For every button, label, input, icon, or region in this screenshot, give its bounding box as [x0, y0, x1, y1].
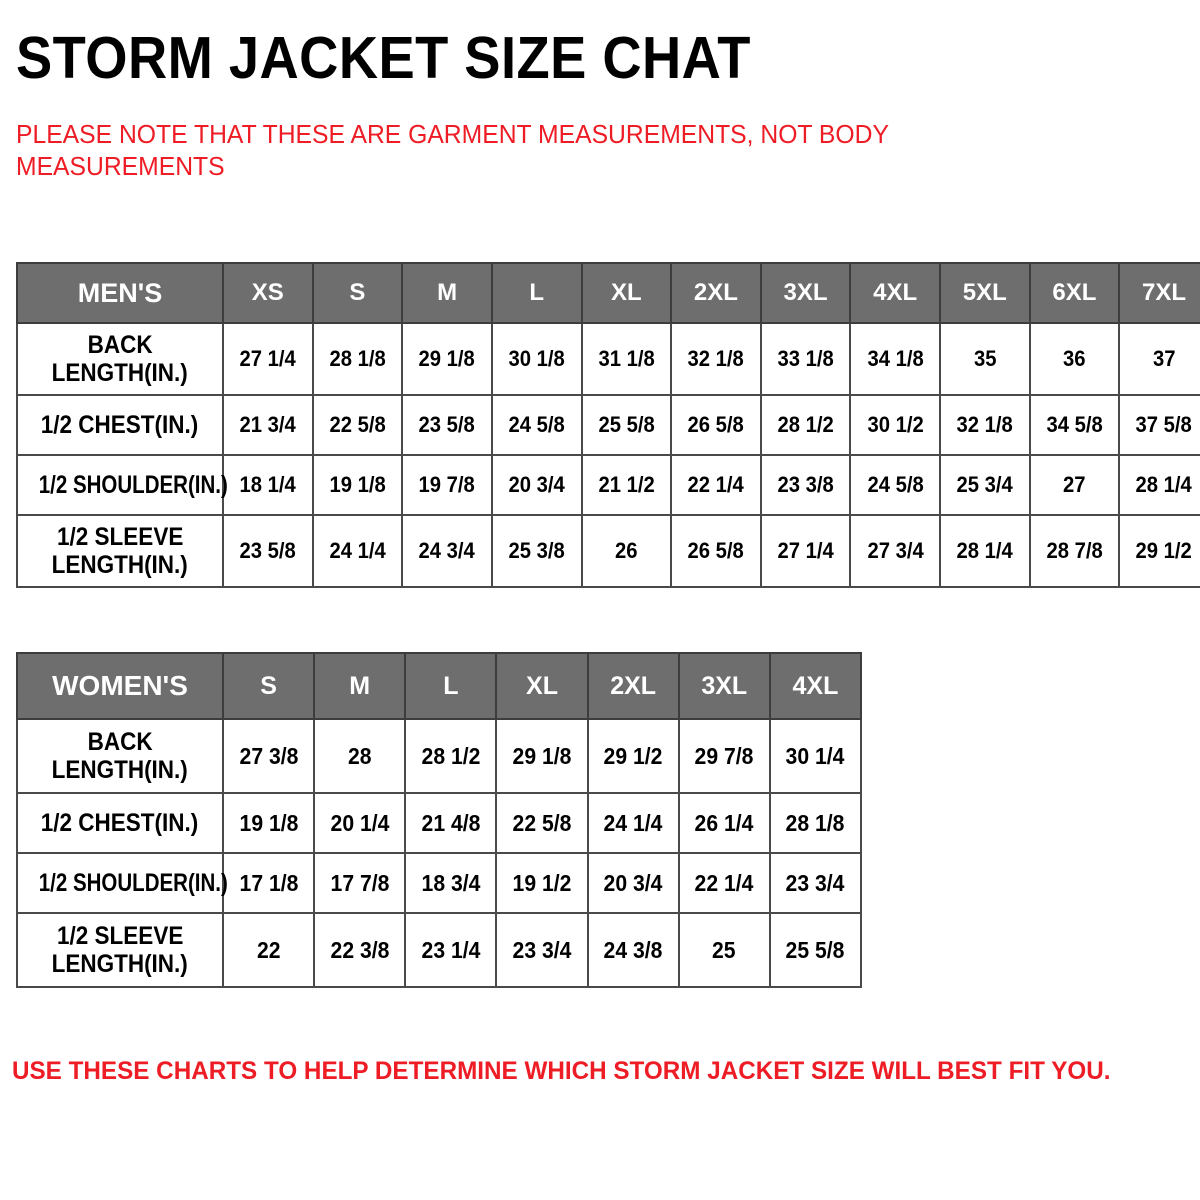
measurement-cell: 23 5/8 — [402, 395, 492, 455]
table-row: 1/2 SHOULDER(IN.)18 1/419 1/819 7/820 3/… — [17, 455, 1200, 515]
measurement-cell: 26 — [582, 515, 672, 587]
measurement-value: 28 1/8 — [329, 346, 385, 372]
mens-size-header-l: L — [492, 263, 582, 323]
mens-size-header-4xl: 4XL — [850, 263, 940, 323]
measurement-label-line1: 1/2 SLEEVE — [57, 922, 183, 950]
measurement-cell: 22 1/4 — [679, 853, 770, 913]
mens-measurement-label: 1/2 SLEEVELENGTH(IN.) — [17, 515, 223, 587]
measurement-cell: 34 1/8 — [850, 323, 940, 395]
womens-measurement-label: BACKLENGTH(IN.) — [17, 719, 223, 793]
measurement-label-line1: 1/2 CHEST(IN.) — [41, 411, 199, 439]
measurement-value: 17 1/8 — [239, 870, 298, 897]
mens-table-body: BACKLENGTH(IN.)27 1/428 1/829 1/830 1/83… — [17, 323, 1200, 587]
measurement-cell: 27 3/4 — [850, 515, 940, 587]
womens-table-header: WOMEN'SSMLXL2XL3XL4XL — [17, 653, 861, 719]
measurement-cell: 20 1/4 — [314, 793, 405, 853]
womens-header-row: WOMEN'SSMLXL2XL3XL4XL — [17, 653, 861, 719]
measurement-value: 27 3/8 — [239, 743, 298, 770]
measurement-value: 18 1/4 — [240, 472, 296, 498]
measurement-value: 24 1/4 — [329, 538, 385, 564]
measurement-value: 28 1/4 — [1136, 472, 1192, 498]
measurement-cell: 30 1/8 — [492, 323, 582, 395]
measurement-value: 19 7/8 — [419, 472, 475, 498]
measurement-cell: 20 3/4 — [492, 455, 582, 515]
measurement-cell: 21 4/8 — [405, 793, 496, 853]
measurement-value: 36 — [1063, 346, 1086, 372]
size-chart-page: STORM JACKET SIZE CHAT PLEASE NOTE THAT … — [0, 0, 1200, 1200]
measurement-cell: 24 5/8 — [850, 455, 940, 515]
measurement-value: 27 — [1063, 472, 1086, 498]
measurement-value: 31 1/8 — [598, 346, 654, 372]
measurement-cell: 22 1/4 — [671, 455, 761, 515]
measurement-cell: 32 1/8 — [940, 395, 1030, 455]
measurement-cell: 29 1/2 — [1119, 515, 1200, 587]
measurement-value: 28 1/4 — [957, 538, 1013, 564]
measurement-value: 32 1/8 — [688, 346, 744, 372]
measurement-cell: 21 3/4 — [223, 395, 313, 455]
womens-measurement-label: 1/2 SLEEVELENGTH(IN.) — [17, 913, 223, 987]
womens-corner-label: WOMEN'S — [17, 653, 223, 719]
table-row: BACKLENGTH(IN.)27 3/82828 1/229 1/829 1/… — [17, 719, 861, 793]
measurement-value: 28 7/8 — [1046, 538, 1102, 564]
measurement-cell: 23 3/4 — [770, 853, 861, 913]
measurement-value: 25 3/8 — [509, 538, 565, 564]
measurement-cell: 25 5/8 — [770, 913, 861, 987]
measurement-cell: 30 1/4 — [770, 719, 861, 793]
table-row: 1/2 SLEEVELENGTH(IN.)2222 3/823 1/423 3/… — [17, 913, 861, 987]
measurement-cell: 29 7/8 — [679, 719, 770, 793]
measurement-cell: 27 3/8 — [223, 719, 314, 793]
measurement-cell: 29 1/2 — [588, 719, 679, 793]
measurement-cell: 37 5/8 — [1119, 395, 1200, 455]
womens-size-header-3xl: 3XL — [679, 653, 770, 719]
measurement-value: 25 5/8 — [598, 412, 654, 438]
measurement-cell: 25 5/8 — [582, 395, 672, 455]
measurement-cell: 30 1/2 — [850, 395, 940, 455]
measurement-label-line1: BACK — [88, 331, 153, 359]
measurement-value: 19 1/8 — [239, 810, 298, 837]
mens-size-header-xl: XL — [582, 263, 672, 323]
measurement-label-line2: LENGTH(IN.) — [52, 756, 188, 784]
measurement-value: 23 5/8 — [419, 412, 475, 438]
measurement-cell: 17 7/8 — [314, 853, 405, 913]
table-row: 1/2 SLEEVELENGTH(IN.)23 5/824 1/424 3/42… — [17, 515, 1200, 587]
measurement-value: 23 1/4 — [421, 937, 480, 964]
measurement-cell: 29 1/8 — [402, 323, 492, 395]
measurement-cell: 18 3/4 — [405, 853, 496, 913]
measurement-value: 29 1/2 — [604, 743, 663, 770]
mens-corner-label: MEN'S — [17, 263, 223, 323]
mens-header-row: MEN'SXSSMLXL2XL3XL4XL5XL6XL7XL — [17, 263, 1200, 323]
womens-size-header-xl: XL — [496, 653, 587, 719]
measurement-value: 28 1/2 — [777, 412, 833, 438]
measurement-value: 24 5/8 — [867, 472, 923, 498]
mens-size-header-7xl: 7XL — [1119, 263, 1200, 323]
measurement-value: 19 1/8 — [329, 472, 385, 498]
measurement-cell: 19 1/8 — [313, 455, 403, 515]
womens-measurement-label: 1/2 SHOULDER(IN.) — [17, 853, 223, 913]
measurement-cell: 22 — [223, 913, 314, 987]
measurement-value: 22 1/4 — [688, 472, 744, 498]
measurement-value: 22 3/8 — [330, 937, 389, 964]
measurement-cell: 25 3/4 — [940, 455, 1030, 515]
measurement-value: 23 3/4 — [513, 937, 572, 964]
measurement-value: 34 5/8 — [1046, 412, 1102, 438]
measurement-value: 23 3/4 — [786, 870, 845, 897]
measurement-value: 26 5/8 — [688, 412, 744, 438]
measurement-value: 22 1/4 — [695, 870, 754, 897]
measurement-value: 23 5/8 — [240, 538, 296, 564]
measurement-cell: 19 7/8 — [402, 455, 492, 515]
measurement-cell: 24 3/8 — [588, 913, 679, 987]
womens-table-body: BACKLENGTH(IN.)27 3/82828 1/229 1/829 1/… — [17, 719, 861, 987]
measurement-label-line1: 1/2 CHEST(IN.) — [41, 809, 199, 837]
measurement-cell: 22 3/8 — [314, 913, 405, 987]
measurement-value: 27 1/4 — [777, 538, 833, 564]
mens-size-header-2xl: 2XL — [671, 263, 761, 323]
mens-size-header-3xl: 3XL — [761, 263, 851, 323]
measurement-cell: 27 1/4 — [761, 515, 851, 587]
measurement-cell: 22 5/8 — [496, 793, 587, 853]
measurement-cell: 19 1/8 — [223, 793, 314, 853]
mens-measurement-label: 1/2 CHEST(IN.) — [17, 395, 223, 455]
measurement-cell: 28 — [314, 719, 405, 793]
measurement-value: 22 5/8 — [329, 412, 385, 438]
mens-size-header-s: S — [313, 263, 403, 323]
measurement-value: 21 3/4 — [240, 412, 296, 438]
measurement-value: 37 5/8 — [1136, 412, 1192, 438]
page-title: STORM JACKET SIZE CHAT — [16, 26, 751, 90]
measurement-cell: 31 1/8 — [582, 323, 672, 395]
measurement-value: 26 1/4 — [695, 810, 754, 837]
measurement-cell: 37 — [1119, 323, 1200, 395]
measurement-value: 19 1/2 — [513, 870, 572, 897]
measurement-label-line2: LENGTH(IN.) — [52, 551, 188, 579]
measurement-cell: 28 1/8 — [770, 793, 861, 853]
measurement-cell: 23 5/8 — [223, 515, 313, 587]
measurement-value: 26 5/8 — [688, 538, 744, 564]
measurement-value: 29 7/8 — [695, 743, 754, 770]
measurement-value: 30 1/2 — [867, 412, 923, 438]
garment-measurement-note: PLEASE NOTE THAT THESE ARE GARMENT MEASU… — [16, 118, 919, 182]
womens-size-header-l: L — [405, 653, 496, 719]
measurement-cell: 22 5/8 — [313, 395, 403, 455]
measurement-value: 22 — [257, 937, 281, 964]
mens-size-header-m: M — [402, 263, 492, 323]
measurement-cell: 23 1/4 — [405, 913, 496, 987]
measurement-label-line1: 1/2 SHOULDER(IN.) — [39, 869, 228, 897]
measurement-cell: 17 1/8 — [223, 853, 314, 913]
measurement-value: 28 1/2 — [421, 743, 480, 770]
womens-size-header-2xl: 2XL — [588, 653, 679, 719]
measurement-value: 25 3/4 — [957, 472, 1013, 498]
measurement-value: 24 1/4 — [604, 810, 663, 837]
table-row: 1/2 SHOULDER(IN.)17 1/817 7/818 3/419 1/… — [17, 853, 861, 913]
measurement-cell: 29 1/8 — [496, 719, 587, 793]
measurement-value: 24 5/8 — [509, 412, 565, 438]
measurement-cell: 28 7/8 — [1030, 515, 1120, 587]
mens-size-header-6xl: 6XL — [1030, 263, 1120, 323]
mens-table-header: MEN'SXSSMLXL2XL3XL4XL5XL6XL7XL — [17, 263, 1200, 323]
measurement-cell: 28 1/2 — [761, 395, 851, 455]
measurement-value: 32 1/8 — [957, 412, 1013, 438]
measurement-cell: 25 3/8 — [492, 515, 582, 587]
measurement-cell: 24 5/8 — [492, 395, 582, 455]
use-charts-note: USE THESE CHARTS TO HELP DETERMINE WHICH… — [12, 1056, 1137, 1086]
womens-measurement-label: 1/2 CHEST(IN.) — [17, 793, 223, 853]
measurement-value: 24 3/8 — [604, 937, 663, 964]
measurement-value: 20 3/4 — [604, 870, 663, 897]
womens-size-table: WOMEN'SSMLXL2XL3XL4XL BACKLENGTH(IN.)27 … — [16, 652, 862, 988]
womens-size-header-m: M — [314, 653, 405, 719]
mens-size-header-xs: XS — [223, 263, 313, 323]
measurement-value: 29 1/8 — [419, 346, 475, 372]
measurement-value: 29 1/8 — [513, 743, 572, 770]
measurement-cell: 23 3/4 — [496, 913, 587, 987]
measurement-cell: 28 1/8 — [313, 323, 403, 395]
measurement-cell: 24 1/4 — [588, 793, 679, 853]
measurement-cell: 25 — [679, 913, 770, 987]
measurement-value: 27 1/4 — [240, 346, 296, 372]
mens-measurement-label: BACKLENGTH(IN.) — [17, 323, 223, 395]
measurement-cell: 21 1/2 — [582, 455, 672, 515]
mens-measurement-label: 1/2 SHOULDER(IN.) — [17, 455, 223, 515]
measurement-cell: 28 1/4 — [1119, 455, 1200, 515]
measurement-cell: 19 1/2 — [496, 853, 587, 913]
table-row: BACKLENGTH(IN.)27 1/428 1/829 1/830 1/83… — [17, 323, 1200, 395]
measurement-cell: 28 1/4 — [940, 515, 1030, 587]
mens-size-table: MEN'SXSSMLXL2XL3XL4XL5XL6XL7XL BACKLENGT… — [16, 262, 1200, 588]
measurement-value: 35 — [974, 346, 997, 372]
measurement-value: 18 3/4 — [421, 870, 480, 897]
measurement-cell: 32 1/8 — [671, 323, 761, 395]
measurement-cell: 33 1/8 — [761, 323, 851, 395]
measurement-value: 30 1/4 — [786, 743, 845, 770]
measurement-cell: 28 1/2 — [405, 719, 496, 793]
measurement-value: 37 — [1153, 346, 1176, 372]
table-row: 1/2 CHEST(IN.)19 1/820 1/421 4/822 5/824… — [17, 793, 861, 853]
measurement-value: 26 — [615, 538, 638, 564]
measurement-value: 20 1/4 — [330, 810, 389, 837]
measurement-value: 30 1/8 — [509, 346, 565, 372]
measurement-value: 33 1/8 — [777, 346, 833, 372]
measurement-value: 27 3/4 — [867, 538, 923, 564]
measurement-value: 28 — [348, 743, 372, 770]
measurement-cell: 27 — [1030, 455, 1120, 515]
table-row: 1/2 CHEST(IN.)21 3/422 5/823 5/824 5/825… — [17, 395, 1200, 455]
measurement-value: 25 5/8 — [786, 937, 845, 964]
measurement-value: 20 3/4 — [509, 472, 565, 498]
measurement-cell: 26 5/8 — [671, 395, 761, 455]
measurement-cell: 26 5/8 — [671, 515, 761, 587]
measurement-cell: 35 — [940, 323, 1030, 395]
measurement-cell: 23 3/8 — [761, 455, 851, 515]
measurement-value: 25 — [712, 937, 736, 964]
womens-size-header-4xl: 4XL — [770, 653, 861, 719]
measurement-value: 24 3/4 — [419, 538, 475, 564]
measurement-label-line1: BACK — [88, 728, 153, 756]
measurement-label-line1: 1/2 SHOULDER(IN.) — [39, 471, 228, 499]
measurement-cell: 24 1/4 — [313, 515, 403, 587]
measurement-label-line2: LENGTH(IN.) — [52, 950, 188, 978]
mens-size-header-5xl: 5XL — [940, 263, 1030, 323]
measurement-label-line2: LENGTH(IN.) — [52, 359, 188, 387]
measurement-value: 29 1/2 — [1136, 538, 1192, 564]
measurement-cell: 36 — [1030, 323, 1120, 395]
measurement-cell: 26 1/4 — [679, 793, 770, 853]
measurement-cell: 24 3/4 — [402, 515, 492, 587]
womens-size-header-s: S — [223, 653, 314, 719]
measurement-cell: 18 1/4 — [223, 455, 313, 515]
measurement-value: 22 5/8 — [513, 810, 572, 837]
measurement-label-line1: 1/2 SLEEVE — [57, 523, 183, 551]
measurement-cell: 20 3/4 — [588, 853, 679, 913]
measurement-value: 23 3/8 — [777, 472, 833, 498]
measurement-value: 34 1/8 — [867, 346, 923, 372]
measurement-cell: 34 5/8 — [1030, 395, 1120, 455]
measurement-value: 28 1/8 — [786, 810, 845, 837]
measurement-value: 21 1/2 — [598, 472, 654, 498]
measurement-value: 17 7/8 — [330, 870, 389, 897]
measurement-value: 21 4/8 — [421, 810, 480, 837]
measurement-cell: 27 1/4 — [223, 323, 313, 395]
